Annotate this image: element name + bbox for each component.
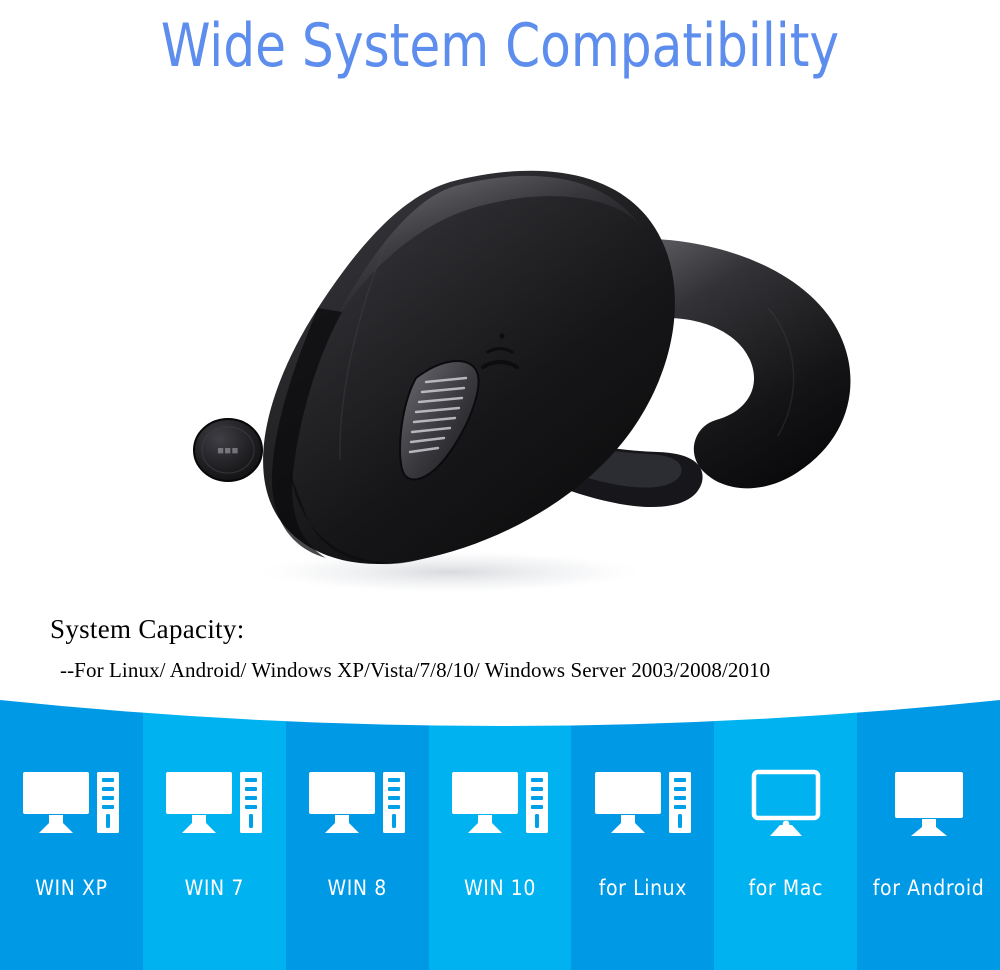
os-label: WIN 10 <box>464 876 536 900</box>
os-label: for Mac <box>749 876 823 900</box>
imac-monitor-icon <box>738 768 834 840</box>
os-label: WIN 8 <box>327 876 386 900</box>
barcode-scanner-illustration: ■■■ <box>150 120 870 600</box>
os-label: for Linux <box>599 876 687 900</box>
os-column-for-mac[interactable]: for Mac <box>714 690 857 970</box>
os-column-win-xp[interactable]: WIN XP <box>0 690 143 970</box>
os-label: WIN 7 <box>185 876 244 900</box>
desktop-tower-icon <box>309 768 405 840</box>
page-title: Wide System Compatibility <box>35 6 965 86</box>
compatibility-infographic: Wide System Compatibility <box>0 0 1000 970</box>
desktop-tower-icon <box>23 768 119 840</box>
os-column-win-10[interactable]: WIN 10 <box>429 690 572 970</box>
product-image: ■■■ <box>150 120 870 600</box>
desktop-tower-icon <box>595 768 691 840</box>
spec-block: System Capacity: --For Linux/ Android/ W… <box>50 612 950 684</box>
desktop-tower-icon <box>452 768 548 840</box>
spec-supported-systems: --For Linux/ Android/ Windows XP/Vista/7… <box>60 656 950 684</box>
spec-title: System Capacity: <box>50 612 950 646</box>
os-column-for-android[interactable]: for Android <box>857 690 1000 970</box>
os-column-win-7[interactable]: WIN 7 <box>143 690 286 970</box>
os-column-win-8[interactable]: WIN 8 <box>286 690 429 970</box>
brand-badge: ■■■ <box>194 419 262 481</box>
os-column-for-linux[interactable]: for Linux <box>571 690 714 970</box>
desktop-tower-icon <box>166 768 262 840</box>
svg-text:■■■: ■■■ <box>217 445 238 457</box>
os-compatibility-strip: WIN XPWIN 7WIN 8WIN 10for Linuxfor Macfo… <box>0 690 1000 970</box>
os-label: for Android <box>873 876 985 900</box>
os-label: WIN XP <box>35 876 107 900</box>
os-columns: WIN XPWIN 7WIN 8WIN 10for Linuxfor Macfo… <box>0 690 1000 970</box>
monitor-icon <box>881 768 977 840</box>
